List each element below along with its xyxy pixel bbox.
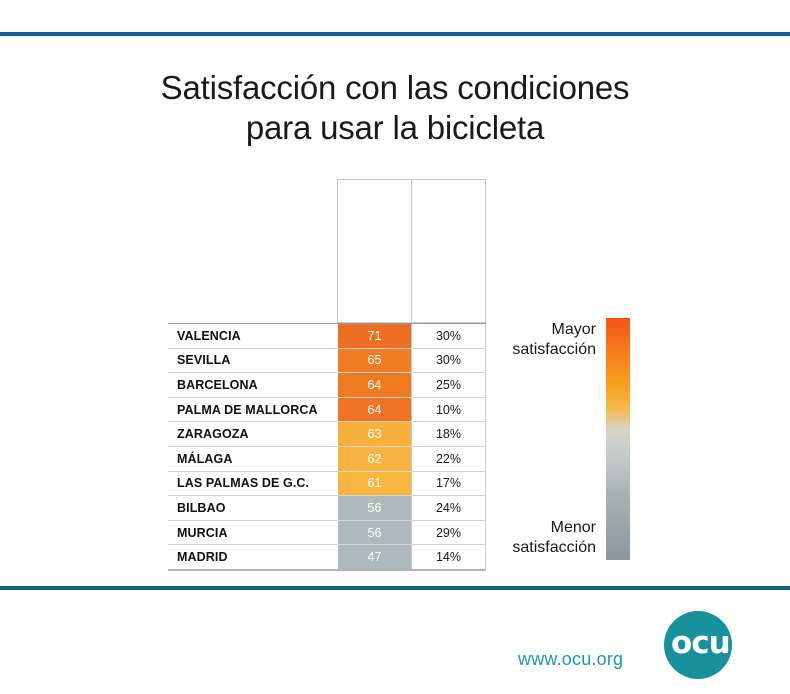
footer-website-url[interactable]: www.ocu.org xyxy=(518,649,623,670)
cell-satisfaction-score: 64 xyxy=(337,398,412,422)
cell-satisfaction-score: 65 xyxy=(337,349,412,373)
column-header-satisfaccion-general: Satisfacción general con las condiciones… xyxy=(337,179,412,323)
table-row: ZARAGOZA6318% xyxy=(168,421,486,446)
cell-weekly-use-pct: 10% xyxy=(412,398,486,422)
table-row: LAS PALMAS DE G.C.6117% xyxy=(168,471,486,496)
cell-city: PALMA DE MALLORCA xyxy=(168,398,337,422)
satisfaction-table: Satisfacción general con las condiciones… xyxy=(168,179,486,571)
table-row: BARCELONA6425% xyxy=(168,372,486,397)
cell-city: VALENCIA xyxy=(168,324,337,348)
cell-satisfaction-score: 64 xyxy=(337,373,412,397)
column-header-uso-semanal: Vecinos que usan la bicicleta en la ciud… xyxy=(412,179,486,323)
cell-weekly-use-pct: 25% xyxy=(412,373,486,397)
cell-weekly-use-pct: 24% xyxy=(412,496,486,520)
cell-satisfaction-score: 61 xyxy=(337,472,412,496)
cell-weekly-use-pct: 17% xyxy=(412,472,486,496)
page-title-line-2: para usar la bicicleta xyxy=(0,108,790,148)
cell-city: BARCELONA xyxy=(168,373,337,397)
legend-gradient-bar xyxy=(606,318,630,560)
table-row: PALMA DE MALLORCA6410% xyxy=(168,397,486,422)
ocu-logo: ocu xyxy=(664,611,736,683)
cell-satisfaction-score: 56 xyxy=(337,521,412,545)
table-row: BILBAO5624% xyxy=(168,495,486,520)
ocu-logo-wordmark: ocu xyxy=(671,628,730,659)
color-scale-legend: Mayor satisfacción Menor satisfacción xyxy=(500,318,660,560)
column-header-line: por semana xyxy=(412,184,413,316)
cell-satisfaction-score: 56 xyxy=(337,496,412,520)
table-header-row: Satisfacción general con las condiciones… xyxy=(337,179,486,323)
page-title-line-1: Satisfacción con las condiciones xyxy=(0,68,790,108)
cell-city: MÁLAGA xyxy=(168,447,337,471)
cell-weekly-use-pct: 18% xyxy=(412,422,486,446)
column-header-line: uso de la bicicleta xyxy=(337,184,339,316)
cell-satisfaction-score: 71 xyxy=(337,324,412,348)
top-divider-rule xyxy=(0,32,790,36)
legend-label-high: Mayor satisfacción xyxy=(426,320,596,360)
legend-label-low: Menor satisfacción xyxy=(426,518,596,558)
page-title: Satisfacción con las condiciones para us… xyxy=(0,68,790,148)
cell-satisfaction-score: 47 xyxy=(337,545,412,569)
cell-city: MURCIA xyxy=(168,521,337,545)
cell-satisfaction-score: 62 xyxy=(337,447,412,471)
cell-weekly-use-pct: 22% xyxy=(412,447,486,471)
cell-city: SEVILLA xyxy=(168,349,337,373)
cell-city: MADRID xyxy=(168,545,337,569)
cell-city: LAS PALMAS DE G.C. xyxy=(168,472,337,496)
cell-satisfaction-score: 63 xyxy=(337,422,412,446)
bottom-divider-rule xyxy=(0,586,790,590)
cell-city: BILBAO xyxy=(168,496,337,520)
cell-city: ZARAGOZA xyxy=(168,422,337,446)
table-row: MÁLAGA6222% xyxy=(168,446,486,471)
